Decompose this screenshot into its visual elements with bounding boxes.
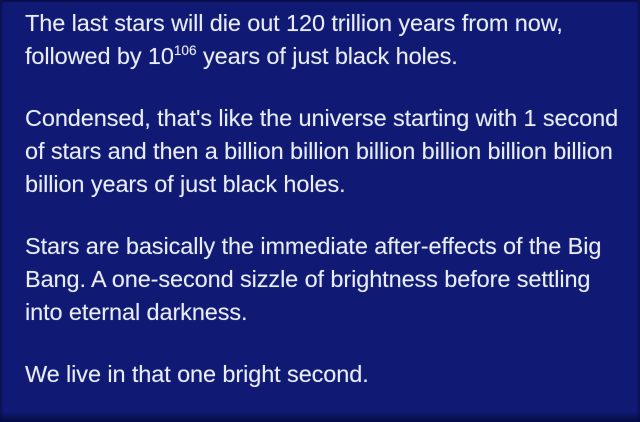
paragraph-3: Stars are basically the immediate after-… bbox=[25, 230, 628, 329]
paragraph-2: Condensed, that's like the universe star… bbox=[25, 102, 628, 201]
paragraph-1-text-after-exponent: years of just black holes. bbox=[197, 43, 458, 69]
left-edge-vignette bbox=[0, 0, 4, 422]
text-post-screenshot: The last stars will die out 120 trillion… bbox=[0, 0, 640, 422]
exponent-106: 106 bbox=[174, 43, 197, 58]
post-text-body: The last stars will die out 120 trillion… bbox=[25, 7, 628, 391]
paragraph-1: The last stars will die out 120 trillion… bbox=[25, 7, 628, 73]
right-edge-vignette bbox=[636, 0, 640, 422]
paragraph-4: We live in that one bright second. bbox=[25, 358, 628, 391]
